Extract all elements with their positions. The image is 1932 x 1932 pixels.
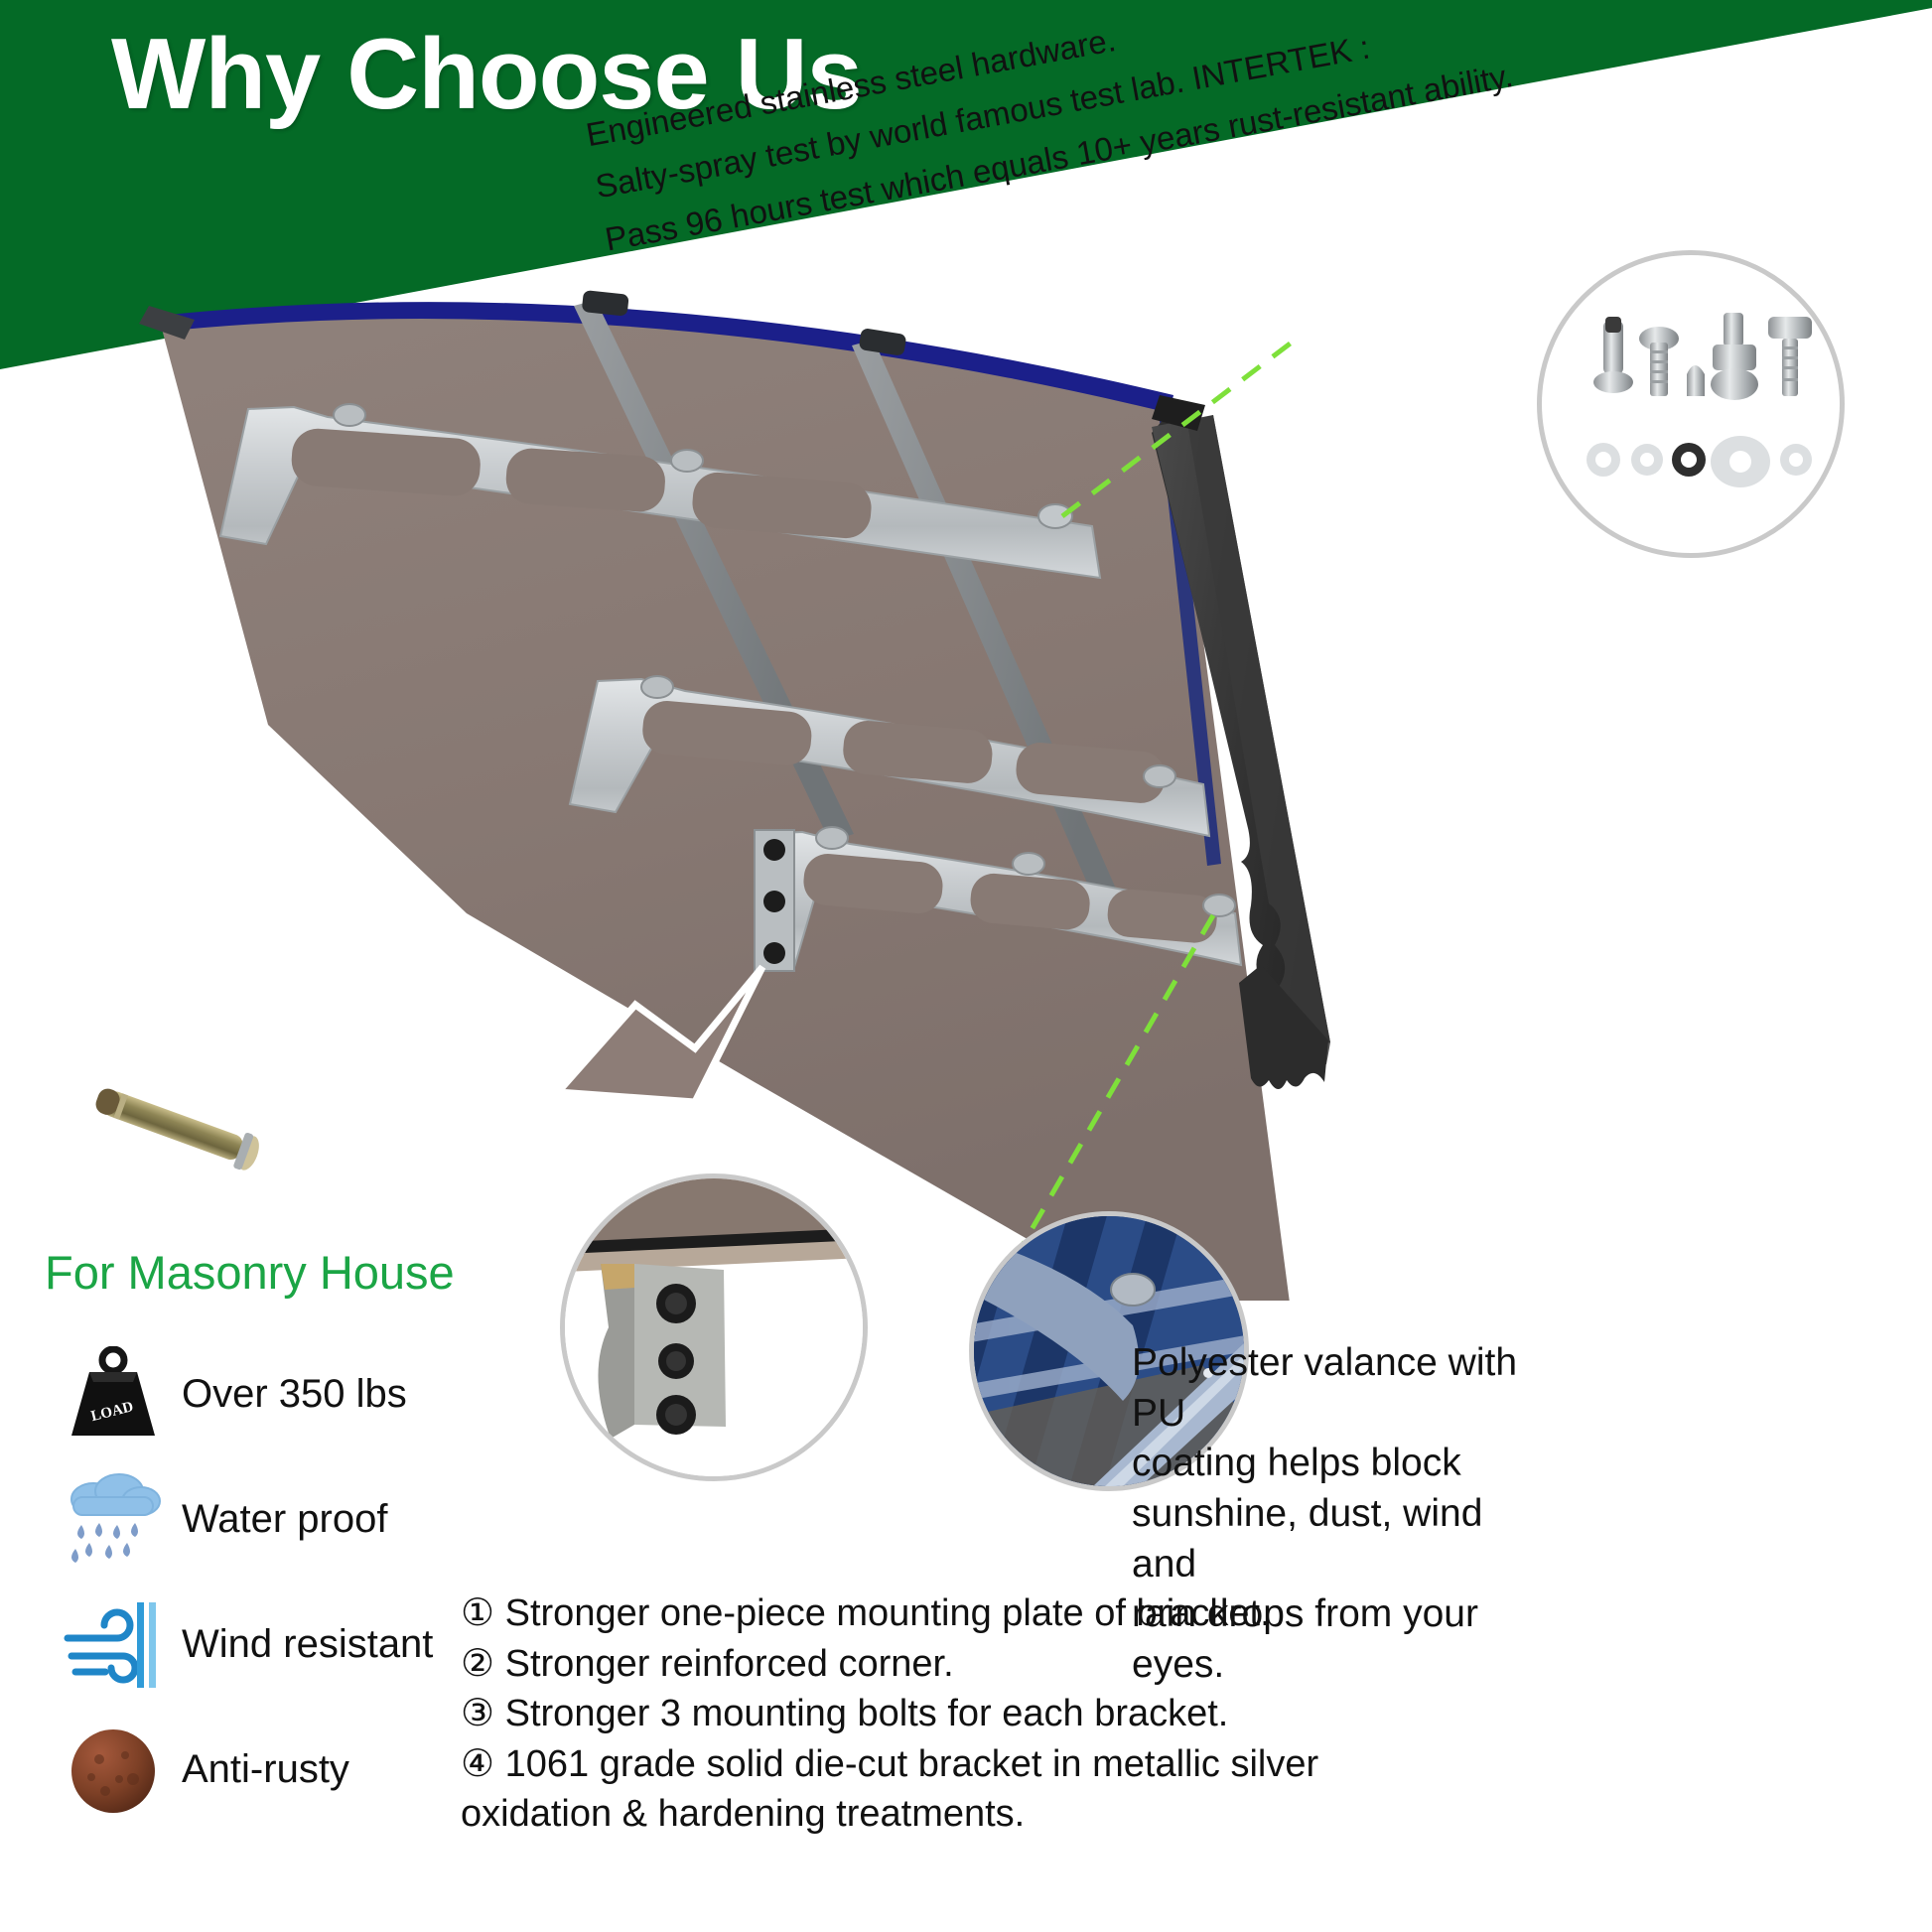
feature-label: Anti-rusty: [172, 1747, 349, 1792]
thumb-screw-icon: [1768, 317, 1812, 396]
washer-icon: [1631, 444, 1663, 476]
washer-icon: [1780, 444, 1812, 476]
bracket-detail-circle: [560, 1173, 868, 1481]
numbered-notes-list: ① Stronger one-piece mounting plate of b…: [461, 1588, 1632, 1840]
knurled-knob-bolt-icon: [1711, 313, 1758, 400]
large-washer-icon: [1711, 436, 1770, 487]
rust-sphere-icon: [55, 1718, 172, 1821]
pan-head-bolt-icon: [1639, 327, 1679, 396]
note-item: ③ Stronger 3 mounting bolts for each bra…: [461, 1689, 1632, 1739]
masonry-house-heading: For Masonry House: [45, 1245, 455, 1300]
wind-icon: [55, 1592, 172, 1696]
feature-label: Over 350 lbs: [172, 1372, 407, 1417]
load-weight-icon: LOAD: [55, 1342, 172, 1446]
note-item: ① Stronger one-piece mounting plate of b…: [461, 1588, 1632, 1639]
feature-row-antirusty: Anti-rusty: [55, 1714, 452, 1825]
feature-row-load: LOAD Over 350 lbs: [55, 1338, 452, 1449]
screw-icon: [1593, 317, 1633, 393]
feature-label: Water proof: [172, 1497, 387, 1542]
note-item: ② Stronger reinforced corner.: [461, 1639, 1632, 1690]
cap-nut-icon: [1687, 365, 1705, 396]
washer-icon: [1587, 443, 1620, 477]
features-list: LOAD Over 350 lbs Water proof: [55, 1338, 452, 1839]
rubber-washer-icon: [1672, 443, 1706, 477]
feature-label: Wind resistant: [172, 1622, 433, 1667]
valance-line: sunshine, dust, wind and: [1132, 1489, 1549, 1589]
valance-line: Polyester valance with PU: [1132, 1338, 1549, 1439]
feature-row-waterproof: Water proof: [55, 1463, 452, 1575]
rain-cloud-icon: [55, 1467, 172, 1571]
note-item: ④ 1061 grade solid die-cut bracket in me…: [461, 1739, 1632, 1790]
valance-line: coating helps block: [1132, 1439, 1549, 1489]
note-item-continuation: oxidation & hardening treatments.: [461, 1789, 1632, 1840]
hardware-detail-circle: [1537, 250, 1845, 558]
expansion-bolt-image: [77, 1086, 286, 1175]
feature-row-wind: Wind resistant: [55, 1588, 452, 1700]
